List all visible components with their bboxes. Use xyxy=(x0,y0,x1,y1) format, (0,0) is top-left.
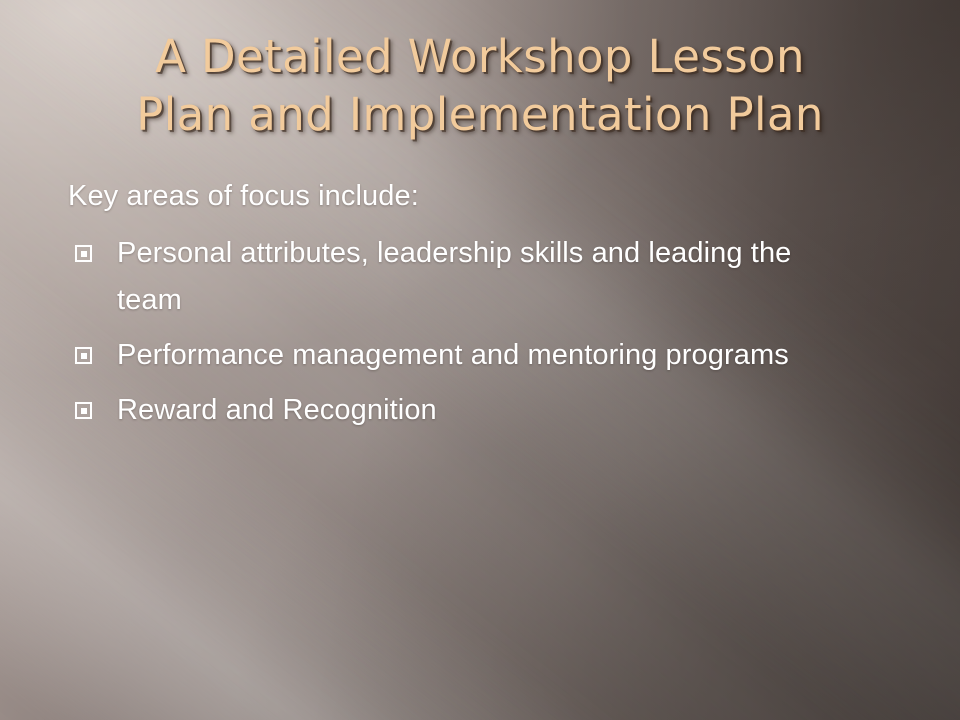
list-item-label: Personal attributes, leadership skills a… xyxy=(117,230,858,324)
slide-title: A Detailed Workshop Lesson Plan and Impl… xyxy=(0,28,960,144)
square-dot-bullet-icon xyxy=(75,402,92,419)
list-item: Performance management and mentoring pro… xyxy=(68,332,858,379)
presentation-slide: A Detailed Workshop Lesson Plan and Impl… xyxy=(0,0,960,720)
slide-body: Key areas of focus include: Personal att… xyxy=(68,176,858,442)
bullet-list: Personal attributes, leadership skills a… xyxy=(68,230,858,434)
list-item-label: Performance management and mentoring pro… xyxy=(117,332,858,379)
list-item: Personal attributes, leadership skills a… xyxy=(68,230,858,324)
slide-title-line-1: A Detailed Workshop Lesson xyxy=(0,28,960,86)
slide-content: A Detailed Workshop Lesson Plan and Impl… xyxy=(0,0,960,720)
square-dot-bullet-icon xyxy=(75,245,92,262)
slide-title-line-2: Plan and Implementation Plan xyxy=(0,86,960,144)
list-item: Reward and Recognition xyxy=(68,387,858,434)
lead-in-text: Key areas of focus include: xyxy=(68,176,858,216)
list-item-label: Reward and Recognition xyxy=(117,387,858,434)
square-dot-bullet-icon xyxy=(75,347,92,364)
